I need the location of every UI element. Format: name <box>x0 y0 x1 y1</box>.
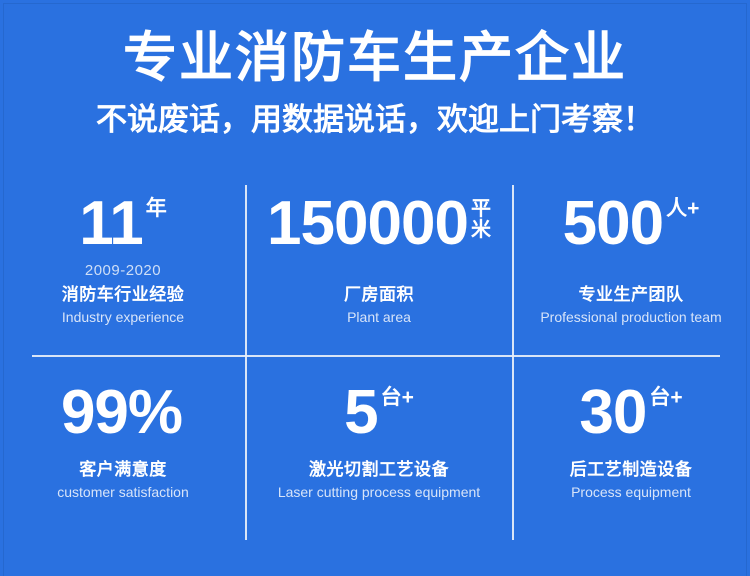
banner-header: 专业消防车生产企业 不说废话，用数据说话，欢迎上门考察！ <box>0 0 750 138</box>
stat-number: 99% <box>61 381 182 445</box>
divider-vertical-right <box>512 185 514 540</box>
stat-unit: 人+ <box>666 198 699 220</box>
stat-label-en: Laser cutting process equipment <box>278 483 480 501</box>
stat-label-en: Plant area <box>347 308 411 326</box>
stat-label-cn: 消防车行业经验 <box>62 284 185 306</box>
stat-label-cn: 专业生产团队 <box>579 284 684 306</box>
stat-label-en: Industry experience <box>62 308 184 326</box>
stat-unit: 台+ <box>649 387 682 409</box>
stat-cell-laser-cutting-equipment: 5 台+ 激光切割工艺设备 Laser cutting process equi… <box>246 356 512 545</box>
stat-number: 5 <box>344 381 377 445</box>
stat-subnumber: 2009-2020 <box>85 262 161 280</box>
stat-cell-process-equipment: 30 台+ 后工艺制造设备 Process equipment <box>512 356 750 545</box>
stat-label-en: Professional production team <box>540 308 721 326</box>
stat-number: 150000 <box>267 192 468 256</box>
stat-number: 500 <box>563 192 663 256</box>
stat-unit-line-1: 平 <box>471 199 491 220</box>
stat-label-en: customer satisfaction <box>57 483 189 501</box>
page-subtitle: 不说废话，用数据说话，欢迎上门考察！ <box>0 88 750 138</box>
stat-cell-industry-experience: 11 年 2009-2020 消防车行业经验 Industry experien… <box>0 180 246 356</box>
stat-number-row: 30 台+ <box>579 381 682 445</box>
stat-cell-customer-satisfaction: 99% 客户满意度 customer satisfaction <box>0 356 246 545</box>
stat-number-row: 99% <box>61 381 185 445</box>
stat-number: 11 <box>79 192 143 256</box>
stat-unit: 平 米 <box>471 199 491 241</box>
stat-label-en: Process equipment <box>571 483 691 501</box>
stat-unit: 年 <box>146 198 167 220</box>
promo-banner: 专业消防车生产企业 不说废话，用数据说话，欢迎上门考察！ 11 年 2009-2… <box>0 0 750 576</box>
stat-label-cn: 后工艺制造设备 <box>570 459 693 481</box>
stat-label-cn: 客户满意度 <box>79 459 167 481</box>
stat-number-row: 5 台+ <box>344 381 414 445</box>
stat-label-cn: 激光切割工艺设备 <box>309 459 449 481</box>
stat-label-cn: 厂房面积 <box>344 284 414 306</box>
divider-horizontal <box>32 355 720 357</box>
stat-cell-production-team: 500 人+ 专业生产团队 Professional production te… <box>512 180 750 356</box>
stat-number-row: 500 人+ <box>563 192 700 256</box>
stat-unit-line-2: 米 <box>471 220 491 241</box>
stats-grid: 11 年 2009-2020 消防车行业经验 Industry experien… <box>0 180 750 545</box>
page-title: 专业消防车生产企业 <box>0 0 750 88</box>
stat-unit: 台+ <box>381 387 414 409</box>
stat-number: 30 <box>579 381 646 445</box>
stat-number-row: 150000 平 米 <box>267 192 491 256</box>
stat-number-row: 11 年 <box>79 192 167 256</box>
divider-vertical-left <box>245 185 247 540</box>
stat-cell-plant-area: 150000 平 米 厂房面积 Plant area <box>246 180 512 356</box>
